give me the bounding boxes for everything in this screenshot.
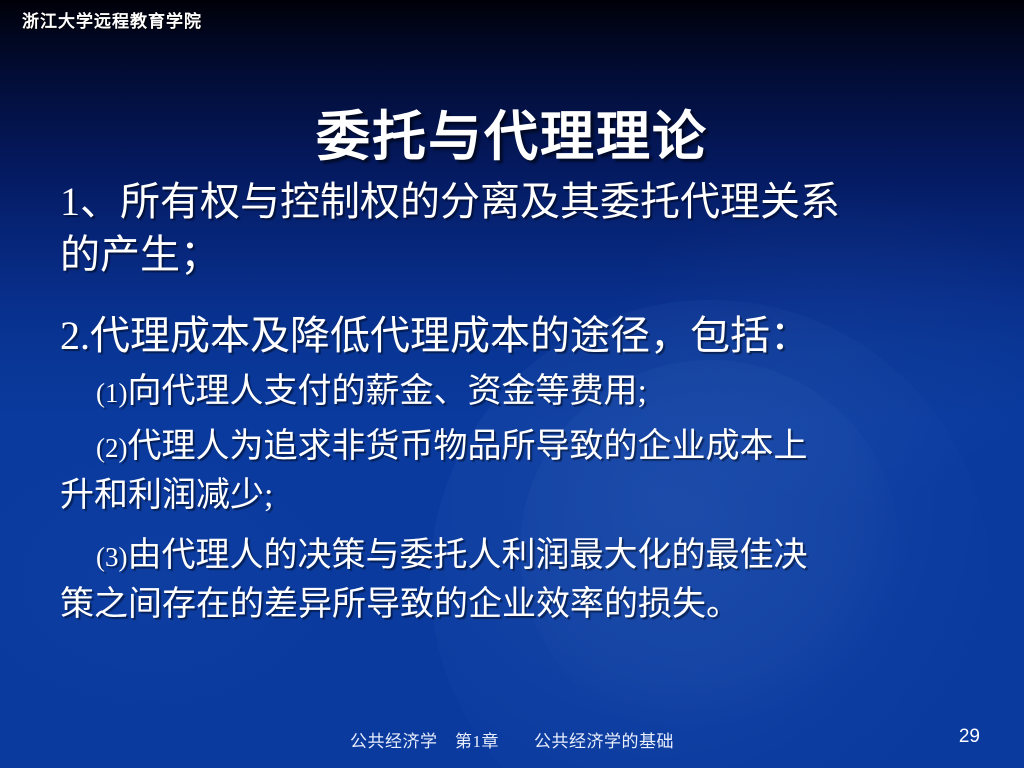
slide-title: 委托与代理理论: [0, 92, 1024, 171]
sub-item-3-continuation: 策之间存在的差异所导致的企业效率的损失。: [60, 581, 980, 629]
organization-header: 浙江大学远程教育学院: [22, 7, 202, 32]
sub-item-3: (3)由代理人的决策与委托人利润最大化的最佳决 策之间存在的差异所导致的企业效率…: [0, 532, 1024, 629]
bullet-item-2: 2.代理成本及降低代理成本的途径，包括：: [0, 309, 1024, 362]
sub-item-2-marker: (2): [96, 433, 127, 463]
bullet-item-2-text: 2.代理成本及降低代理成本的途径，包括：: [60, 313, 810, 358]
slide-body: 1、所有权与控制权的分离及其委托代理关系 的产生； 2.代理成本及降低代理成本的…: [0, 175, 1024, 629]
spacer: [0, 520, 1024, 526]
sub-item-2: (2)代理人为追求非货币物品所导致的企业成本上 升和利润减少;: [0, 423, 1024, 520]
sub-item-3-text: 由代理人的决策与委托人利润最大化的最佳决: [127, 537, 807, 574]
page-number: 29: [959, 726, 980, 748]
bullet-item-1-line-1: 1、所有权与控制权的分离及其委托代理关系: [60, 179, 840, 224]
sub-item-2-continuation: 升和利润减少;: [60, 472, 980, 520]
sub-item-3-marker: (3): [96, 542, 127, 572]
footer-course-note: 公共经济学 第1章 公共经济学的基础: [0, 727, 1024, 752]
sub-item-1: (1)向代理人支付的薪金、资金等费用;: [0, 368, 1024, 417]
sub-item-1-text: 向代理人支付的薪金、资金等费用;: [127, 373, 646, 410]
bullet-item-1-line-2: 的产生；: [60, 228, 976, 281]
spacer: [0, 287, 1024, 295]
presentation-slide: 浙江大学远程教育学院 委托与代理理论 1、所有权与控制权的分离及其委托代理关系 …: [0, 0, 1024, 768]
bullet-item-1: 1、所有权与控制权的分离及其委托代理关系 的产生；: [0, 175, 1024, 281]
sub-item-1-marker: (1): [96, 378, 127, 408]
sub-item-2-text: 代理人为追求非货币物品所导致的企业成本上: [127, 428, 807, 465]
